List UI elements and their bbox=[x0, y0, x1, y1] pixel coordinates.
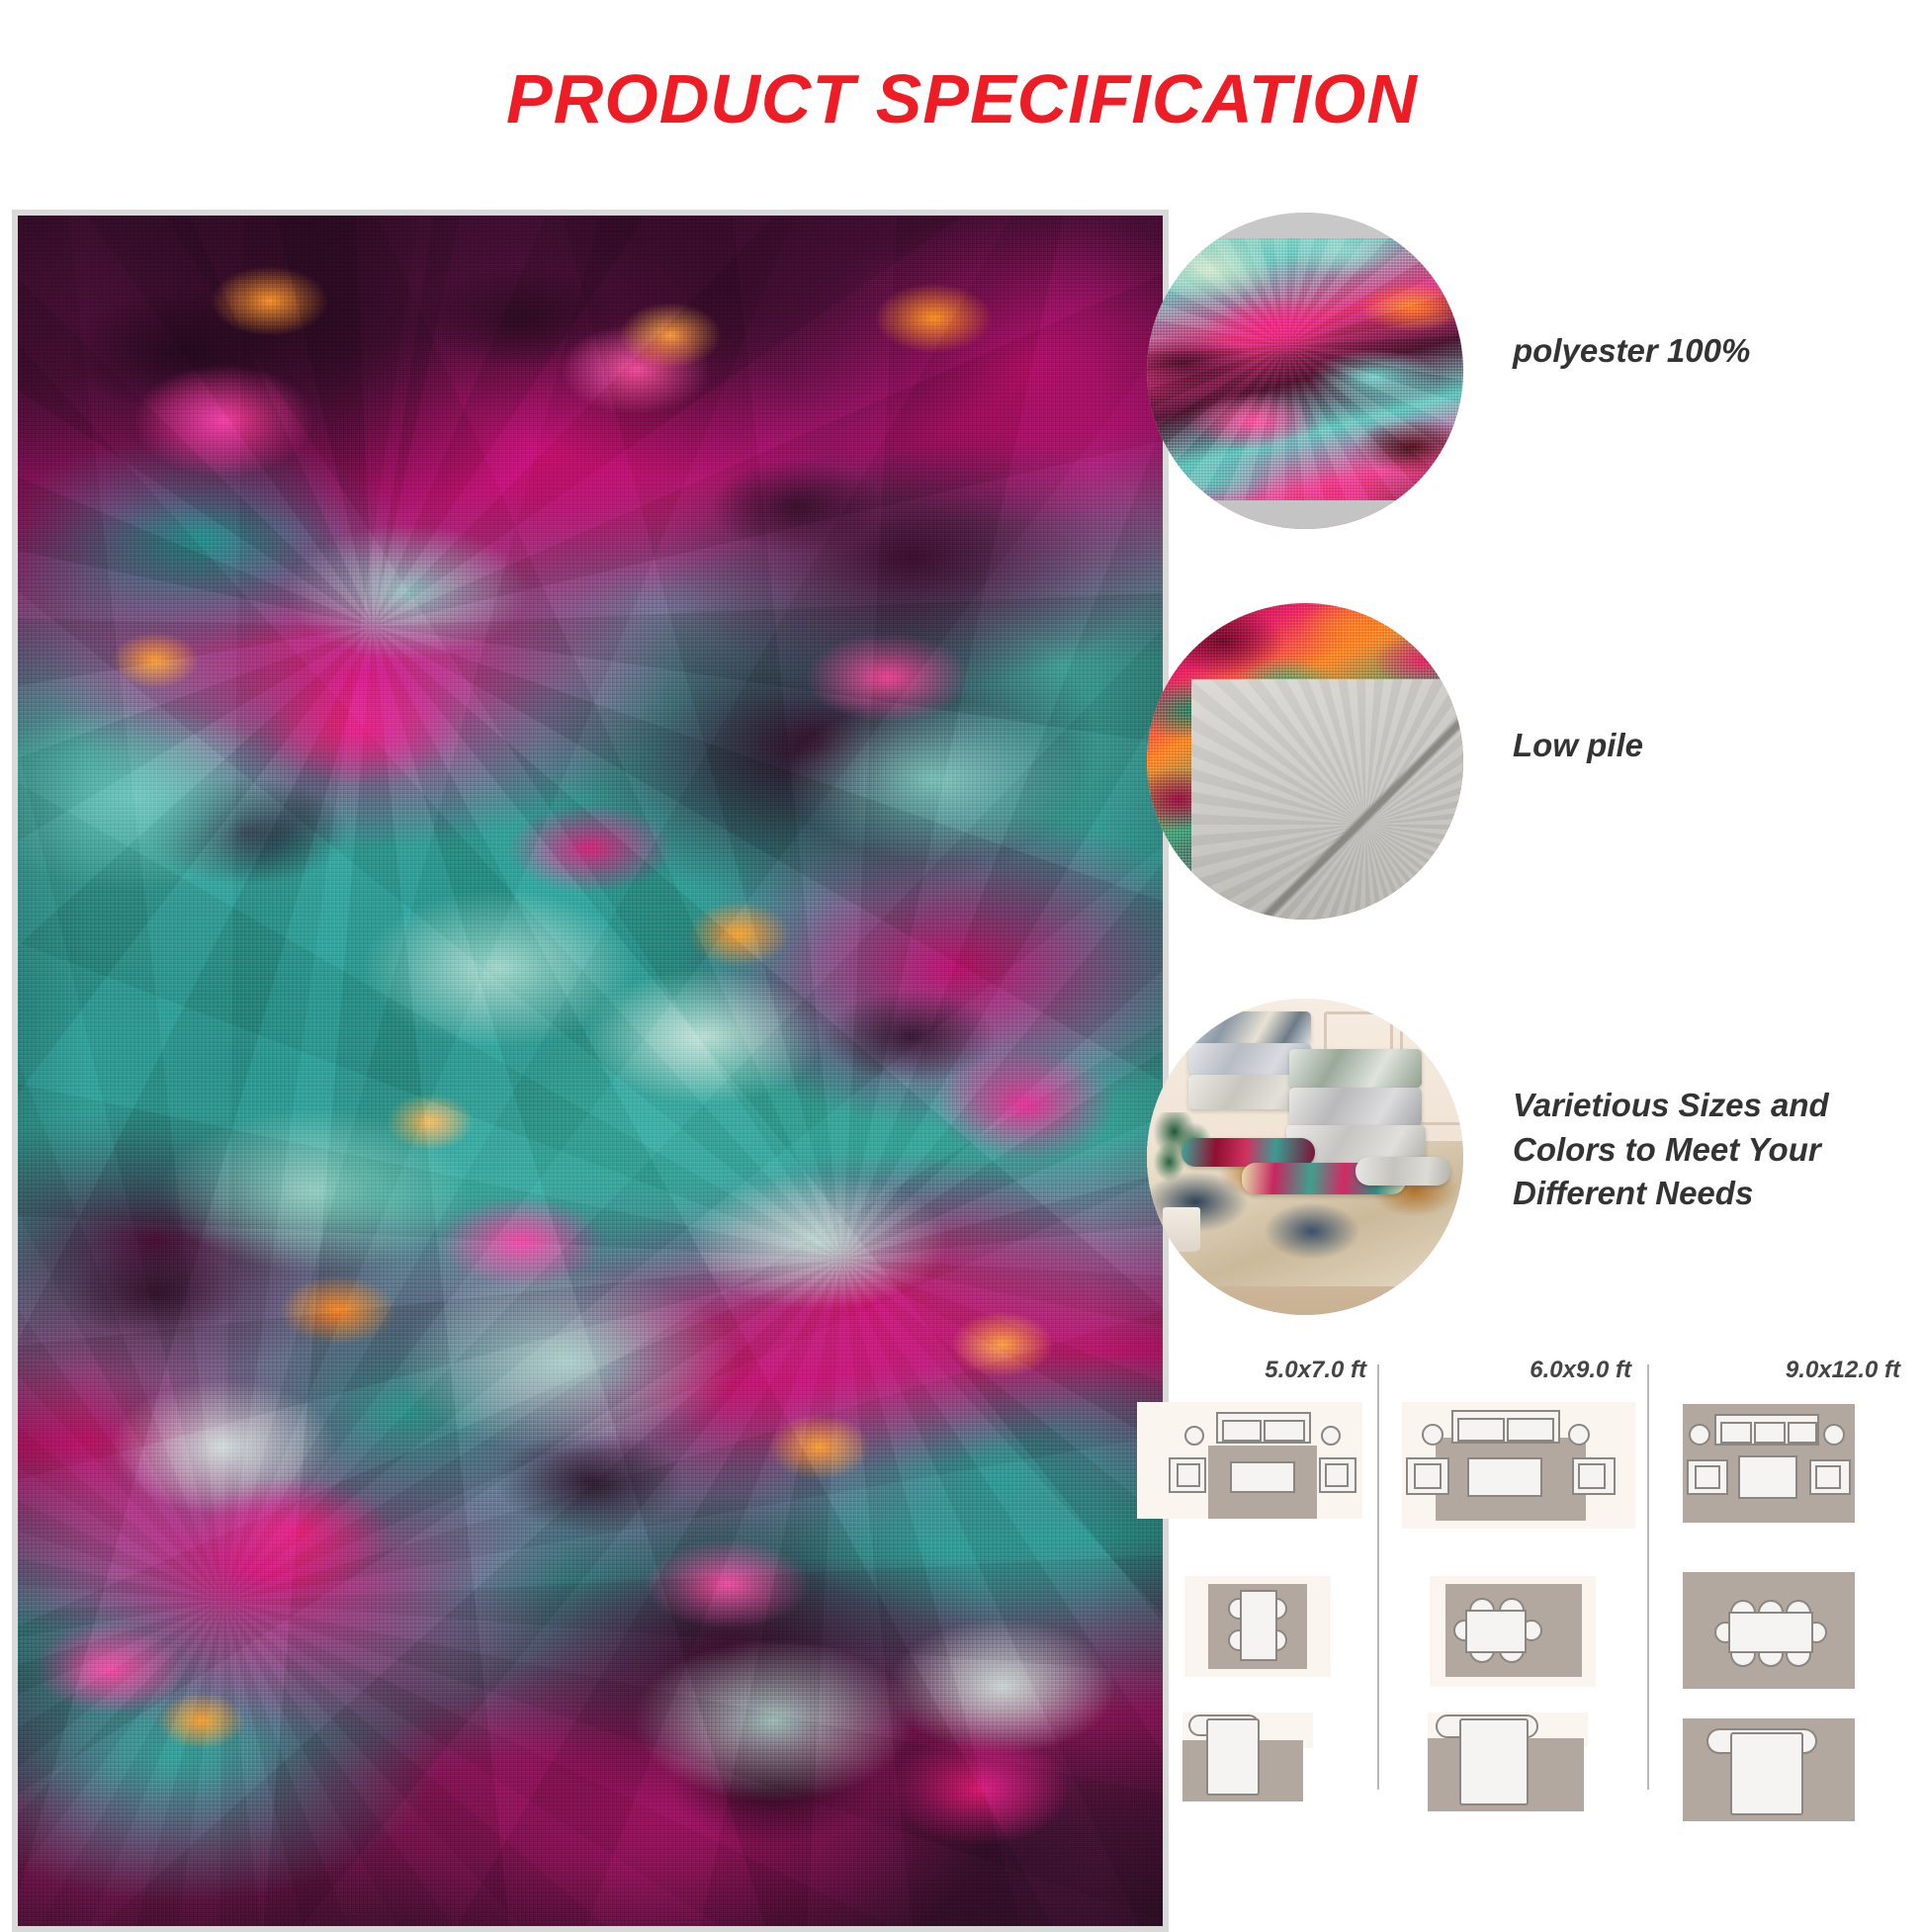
size-guide: 5.0x7.0 ft bbox=[1137, 1357, 1918, 1910]
rug-closeup-circle bbox=[1147, 213, 1463, 529]
hero-rug-frame bbox=[12, 210, 1169, 1932]
folded-rug bbox=[1289, 1049, 1422, 1087]
feature-pile: Low pile bbox=[1147, 603, 1463, 920]
folded-rug bbox=[1289, 1088, 1422, 1125]
rug-closeup-bottom-edge bbox=[1147, 500, 1463, 529]
rug-stack-circle bbox=[1147, 999, 1463, 1315]
diagram-bedroom-6x9 bbox=[1402, 1712, 1635, 1827]
page-title: PRODUCT SPECIFICATION bbox=[0, 59, 1924, 138]
feature-variety: Varietious Sizes and Colors to Meet Your… bbox=[1147, 999, 1463, 1315]
diagram-dining-room-9x12 bbox=[1671, 1572, 1904, 1705]
diagram-living-room-9x12 bbox=[1671, 1402, 1904, 1560]
size-label-5x7: 5.0x7.0 ft bbox=[1265, 1357, 1366, 1384]
size-column-6x9: 6.0x9.0 ft bbox=[1402, 1357, 1649, 1910]
rolled-rug bbox=[1356, 1157, 1450, 1186]
size-label-9x12: 9.0x12.0 ft bbox=[1786, 1357, 1900, 1384]
feature-material-label: polyester 100% bbox=[1513, 329, 1924, 374]
folded-rug bbox=[1191, 1011, 1312, 1043]
feature-material: polyester 100% bbox=[1147, 213, 1463, 529]
feature-variety-label: Varietious Sizes and Colors to Meet Your… bbox=[1513, 1084, 1924, 1216]
diagram-dining-room-5x7 bbox=[1137, 1576, 1362, 1691]
size-label-6x9: 6.0x9.0 ft bbox=[1530, 1357, 1631, 1384]
size-column-9x12: 9.0x12.0 ft bbox=[1671, 1357, 1918, 1910]
rug-backing-fold-crease bbox=[1191, 679, 1463, 920]
diagram-bedroom-5x7 bbox=[1137, 1712, 1362, 1821]
rug-stack-scene bbox=[1147, 999, 1463, 1315]
diagram-living-room-5x7 bbox=[1137, 1402, 1362, 1550]
rug-closeup-top-edge bbox=[1147, 213, 1463, 238]
size-column-5x7: 5.0x7.0 ft bbox=[1137, 1357, 1384, 1910]
rug-closeup-texture bbox=[1147, 213, 1463, 529]
rolled-rug bbox=[1181, 1138, 1314, 1167]
diagram-living-room-6x9 bbox=[1402, 1402, 1635, 1560]
feature-pile-label: Low pile bbox=[1513, 724, 1924, 768]
diagram-bedroom-9x12 bbox=[1671, 1718, 1904, 1833]
plant-pot bbox=[1163, 1207, 1200, 1252]
rug-backing-circle bbox=[1147, 603, 1463, 920]
rug-edge-shading bbox=[18, 216, 1163, 1926]
abstract-area-rug-image bbox=[18, 216, 1163, 1926]
diagram-dining-room-6x9 bbox=[1402, 1576, 1635, 1701]
